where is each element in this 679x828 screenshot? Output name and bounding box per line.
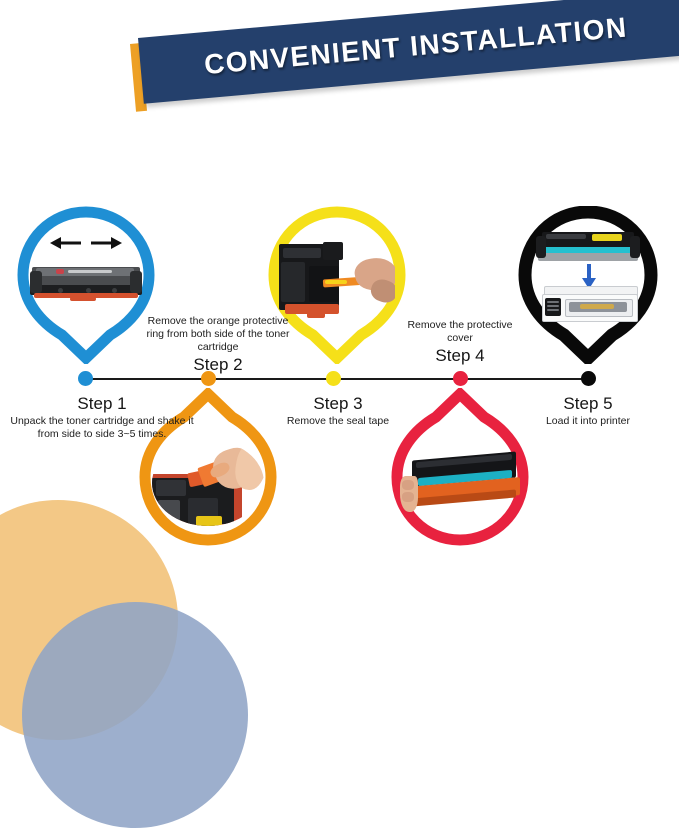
photo-load-into-printer [536, 228, 640, 326]
step-description-3: Remove the seal tape [264, 415, 412, 428]
photo-remove-seal-tape [279, 236, 395, 328]
step-label-1: Step 1 Unpack the toner cartridge and sh… [8, 393, 196, 441]
dot-step-4 [453, 371, 468, 386]
step-description-4: Remove the protective cover [404, 319, 516, 345]
header-banner: CONVENIENT INSTALLATION [130, 24, 679, 136]
step-label-5: Step 5 Load it into printer [522, 393, 654, 428]
step-title-1: Step 1 [8, 393, 196, 415]
photo-toner-cartridge [30, 263, 142, 301]
dot-step-1 [78, 371, 93, 386]
pin-step-1 [14, 206, 158, 364]
step-description-1: Unpack the toner cartridge and shake it … [8, 415, 196, 441]
step-description-2: Remove the orange protective ring from b… [142, 315, 294, 354]
step-label-2: Remove the orange protective ring from b… [142, 315, 294, 376]
decorative-circle-blue [22, 602, 248, 828]
dot-step-3 [326, 371, 341, 386]
page-title: CONVENIENT INSTALLATION [138, 0, 679, 104]
step-title-5: Step 5 [522, 393, 654, 415]
step-description-5: Load it into printer [522, 415, 654, 428]
step-label-4: Remove the protective cover Step 4 [404, 319, 516, 367]
photo-remove-protective-ring [152, 440, 264, 526]
dot-step-5 [581, 371, 596, 386]
photo-remove-protective-cover [400, 450, 522, 520]
step-title-2: Step 2 [142, 354, 294, 376]
step-title-4: Step 4 [404, 345, 516, 367]
step-label-3: Step 3 Remove the seal tape [264, 393, 412, 428]
pin-step-5 [516, 206, 660, 364]
shake-arrows-icon [44, 234, 128, 252]
step-title-3: Step 3 [264, 393, 412, 415]
